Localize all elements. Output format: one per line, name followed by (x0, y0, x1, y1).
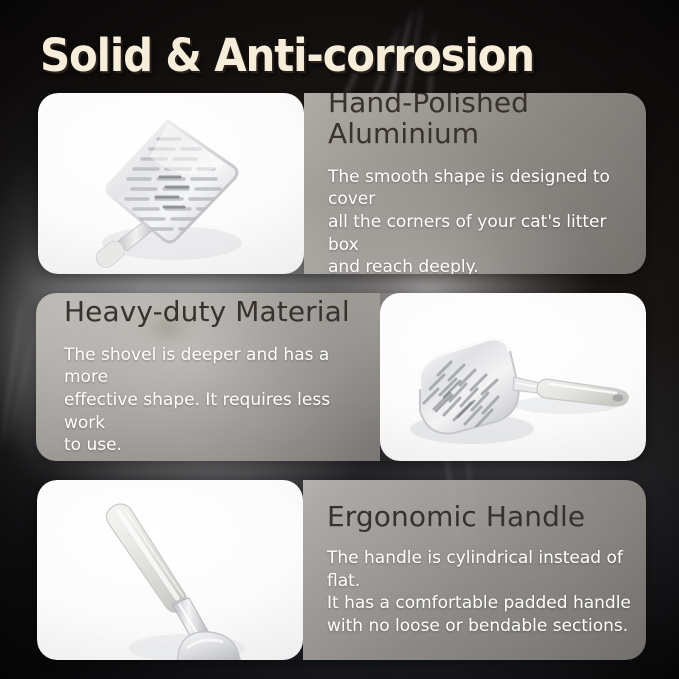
feature-card-heading: Heavy-duty Material (64, 297, 366, 328)
feature-card-body: The shovel is deeper and has a more effe… (64, 344, 366, 457)
product-feature-poster: Solid & Anti-corrosion (0, 0, 679, 679)
feature-card-text-pane: Hand-Polished Aluminium The smooth shape… (304, 93, 646, 274)
feature-card-ergonomic-handle: Ergonomic Handle The handle is cylindric… (37, 480, 646, 660)
litter-scoop-full-angled-photo (380, 293, 646, 461)
feature-card-heading: Ergonomic Handle (327, 502, 632, 533)
feature-card-body: The handle is cylindrical instead of fla… (327, 547, 632, 637)
feature-card-body: The smooth shape is designed to cover al… (328, 166, 630, 274)
feature-card-heavy-duty-material: Heavy-duty Material The shovel is deeper… (36, 293, 646, 461)
litter-scoop-diamond-head-photo (38, 93, 304, 274)
feature-card-text-pane: Ergonomic Handle The handle is cylindric… (303, 480, 646, 660)
feature-card-hand-polished-aluminium: Hand-Polished Aluminium The smooth shape… (38, 93, 646, 274)
litter-scoop-handle-closeup-photo (37, 480, 303, 660)
feature-card-heading: Hand-Polished Aluminium (328, 93, 630, 150)
feature-card-text-pane: Heavy-duty Material The shovel is deeper… (36, 293, 380, 461)
poster-title: Solid & Anti-corrosion (40, 30, 534, 82)
